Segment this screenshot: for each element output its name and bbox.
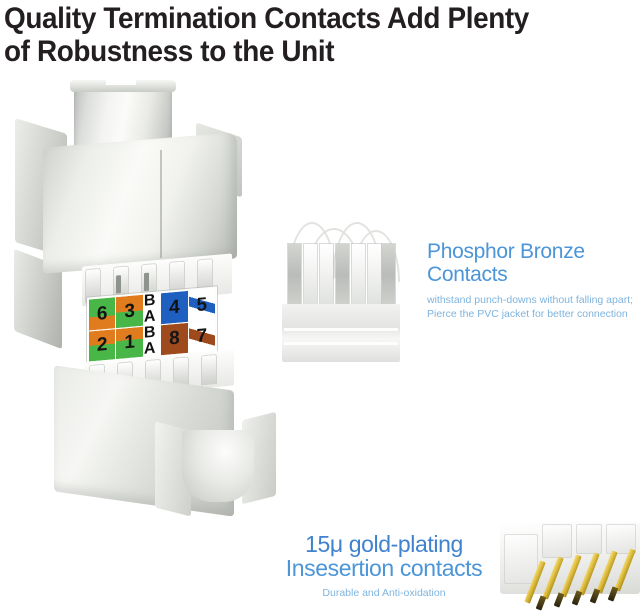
- contact-blade: [288, 244, 301, 306]
- wire-number: 2: [97, 335, 108, 355]
- phosphor-desc-line-1: withstand punch-downs without falling ap…: [427, 293, 639, 307]
- phosphor-heading-line-2: Contacts: [427, 263, 639, 286]
- contact-blade: [352, 244, 365, 306]
- idc-slot: [144, 273, 149, 291]
- idc-tooth: [202, 355, 216, 384]
- wire-number: 6: [97, 304, 108, 324]
- contact-blade: [382, 244, 395, 306]
- cap-notch: [106, 78, 136, 85]
- phosphor-heading-line-1: Phosphor Bronze: [427, 240, 639, 263]
- idc-slot: [116, 275, 121, 293]
- gold-heading-line-2: Insesertion contacts: [268, 556, 500, 580]
- wire-standard-letters-bottom: B A: [144, 325, 160, 357]
- wire-cell-8: 8: [161, 322, 187, 355]
- wire-cell-3: 3: [116, 295, 142, 328]
- wire-cell-5: 5: [189, 288, 215, 321]
- wire-cell-6: 6: [89, 297, 115, 330]
- contact-blade: [320, 244, 333, 306]
- main-product-image: 6 3 B A 4 5 2 1: [10, 78, 310, 518]
- contacts-housing-base: [282, 304, 400, 362]
- cable-saddle: [182, 430, 254, 502]
- contact-blade: [304, 244, 317, 306]
- pin-tip: [536, 595, 547, 610]
- wire-number: 8: [169, 329, 180, 349]
- wire-standard-label: B A: [144, 293, 160, 325]
- infographic-page: Quality Termination Contacts Add Plenty …: [0, 0, 640, 611]
- wire-number: 4: [169, 297, 180, 317]
- wire-standard-label: B A: [144, 325, 160, 357]
- connector-block: [576, 524, 602, 554]
- wire-number: 7: [197, 326, 208, 346]
- wire-number: 1: [124, 333, 135, 353]
- wire-cell-2: 2: [89, 329, 115, 362]
- wire-cell-1: 1: [116, 326, 142, 359]
- gold-plated-connector-image: [500, 516, 640, 611]
- contact-blade: [368, 244, 381, 306]
- wire-number: 5: [197, 295, 208, 315]
- pin-tip: [554, 592, 565, 607]
- phosphor-bronze-contacts-image: [272, 218, 410, 370]
- feature-phosphor-bronze: Phosphor Bronze Contacts withstand punch…: [427, 240, 639, 321]
- wire-cell-7: 7: [189, 320, 215, 353]
- feature-gold-plating: 15μ gold-plating Insesertion contacts Du…: [268, 532, 500, 600]
- page-title-line-1: Quality Termination Contacts Add Plenty: [4, 2, 592, 35]
- page-title-line-2: of Robustness to the Unit: [4, 35, 592, 68]
- housing-seam: [160, 150, 162, 258]
- wire-cell-4: 4: [161, 291, 187, 324]
- phosphor-desc-line-2: Pierce the PVC jacket for better connect…: [427, 307, 639, 321]
- wire-number: 3: [124, 301, 135, 321]
- gold-heading-line-1: 15μ gold-plating: [268, 532, 500, 556]
- contact-blade: [336, 244, 349, 306]
- gold-desc-line-1: Durable and Anti-oxidation: [268, 586, 500, 600]
- jack-housing: [43, 132, 237, 273]
- connector-block: [542, 524, 572, 558]
- page-title: Quality Termination Contacts Add Plenty …: [4, 2, 636, 68]
- wire-standard-letters-top: B A: [144, 293, 160, 325]
